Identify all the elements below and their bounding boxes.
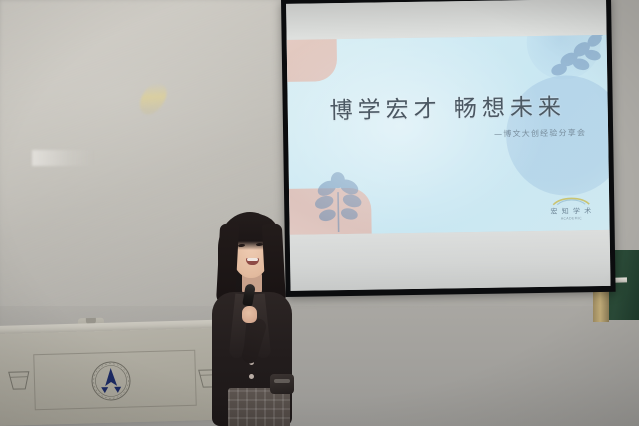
logo-mark-icon — [551, 195, 591, 206]
wall-scuff-mark — [32, 150, 94, 166]
slide-logo: 宏 知 学 术 ACADEMIC — [547, 194, 595, 221]
jacket-button — [249, 374, 254, 379]
classroom-scene: 博学宏才 畅想未来 —博文大创经验分享会 宏 知 学 术 ACADEMIC — [0, 0, 639, 426]
slide-subtitle: —博文大创经验分享会 — [494, 127, 586, 139]
hand — [242, 306, 257, 323]
shoulder-bag — [270, 374, 294, 394]
university-crest-icon — [89, 359, 132, 402]
screen-surface: 博学宏才 畅想未来 —博文大创经验分享会 宏 知 学 术 ACADEMIC — [286, 0, 610, 291]
decorative-block-top-left — [287, 35, 338, 83]
presenter — [196, 206, 308, 426]
logo-subtext: ACADEMIC — [561, 216, 582, 220]
screen-blank-top — [286, 0, 607, 40]
slide-title: 博学宏才 畅想未来 — [287, 87, 607, 126]
cup-graphic-icon — [6, 368, 33, 393]
projection-screen[interactable]: 博学宏才 畅想未来 —博文大创经验分享会 宏 知 学 术 ACADEMIC — [281, 0, 616, 297]
screen-blank-bottom — [290, 230, 611, 291]
plant-illustration-icon — [305, 170, 372, 233]
presentation-slide[interactable]: 博学宏才 畅想未来 —博文大创经验分享会 宏 知 学 术 ACADEMIC — [287, 35, 610, 235]
logo-name: 宏 知 学 术 — [550, 206, 592, 217]
